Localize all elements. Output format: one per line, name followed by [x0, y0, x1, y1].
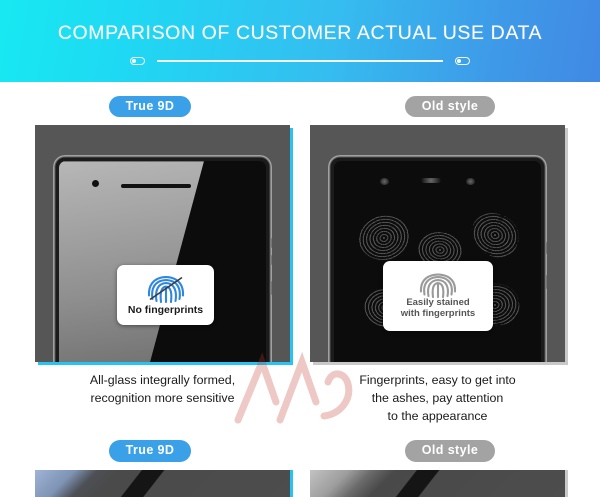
panel-old-style-photo: Easily stained with fingerprints: [310, 125, 565, 362]
power-button: [271, 281, 273, 295]
caption-left-line2: recognition more sensitive: [35, 390, 290, 408]
caption-right-line1: Fingerprints, easy to get into: [310, 372, 565, 390]
panel-true-9d-photo: No fingerprints: [35, 125, 290, 362]
volume-button-right: [546, 242, 548, 254]
glass-protector-sheet: [59, 161, 204, 362]
badge-true-9d-row2: True 9D: [109, 440, 192, 461]
earpiece-speaker-icon: [121, 184, 191, 188]
fingerprint-smudge: [353, 210, 414, 267]
badge-old-style-row2: Old style: [405, 440, 495, 461]
row2-panels: [0, 470, 600, 497]
row1-right-badge-cell: Old style: [300, 96, 600, 117]
phone-edge-line-right: [310, 470, 565, 497]
fingerprint-blocked-icon: [144, 274, 188, 304]
row1-badges: True 9D Old style: [0, 82, 600, 125]
row1-captions: All-glass integrally formed, recognition…: [0, 362, 600, 426]
volume-down-button: [271, 255, 273, 265]
page-title: COMPARISON OF CUSTOMER ACTUAL USE DATA: [58, 22, 542, 45]
overlay-card-no-fingerprints: No fingerprints: [117, 265, 214, 325]
power-button-right: [546, 275, 548, 289]
phone-device-left: [53, 155, 272, 362]
badge-true-9d-row1: True 9D: [109, 96, 192, 117]
front-camera-icon-right: [380, 178, 389, 185]
pill-toggle-icon-left: [130, 57, 145, 65]
proximity-sensor-icon: [466, 178, 475, 185]
caption-old-style: Fingerprints, easy to get into the ashes…: [310, 372, 565, 426]
pill-toggle-icon-right: [455, 57, 470, 65]
volume-up-button: [271, 238, 273, 248]
overlay-card-left-label: No fingerprints: [128, 304, 203, 316]
earpiece-speaker-icon-right: [421, 178, 441, 183]
panel-true-9d-photo-row2: [35, 470, 290, 497]
row1-panels: No fingerprints: [0, 125, 600, 362]
comparison-row-2: True 9D Old style: [0, 426, 600, 497]
row2-badges: True 9D Old style: [0, 426, 600, 469]
caption-right-line2: the ashes, pay attention: [310, 390, 565, 408]
row2-left-badge-cell: True 9D: [0, 440, 300, 461]
row2-right-badge-cell: Old style: [300, 440, 600, 461]
badge-old-style-row1: Old style: [405, 96, 495, 117]
comparison-row-1: True 9D Old style: [0, 82, 600, 426]
caption-left-line1: All-glass integrally formed,: [35, 372, 290, 390]
divider-line: [157, 60, 443, 62]
header-divider: [130, 57, 470, 65]
caption-true-9d: All-glass integrally formed, recognition…: [35, 372, 290, 426]
phone-edge-line-left: [35, 470, 290, 497]
caption-right-line3: to the appearance: [310, 408, 565, 426]
row1-left-badge-cell: True 9D: [0, 96, 300, 117]
overlay-card-easily-stained: Easily stained with fingerprints: [383, 261, 493, 331]
fingerprint-smudge: [465, 207, 524, 263]
page-header: COMPARISON OF CUSTOMER ACTUAL USE DATA: [0, 0, 600, 82]
phone-top-sensors: [334, 178, 541, 195]
comparison-infographic-page: COMPARISON OF CUSTOMER ACTUAL USE DATA T…: [0, 0, 600, 497]
phone-screen-left: [59, 161, 266, 362]
fingerprint-icon: [416, 272, 460, 298]
panel-old-style-photo-row2: [310, 470, 565, 497]
phone-device-right: [328, 155, 547, 362]
overlay-card-right-label-line2: with fingerprints: [401, 309, 475, 320]
